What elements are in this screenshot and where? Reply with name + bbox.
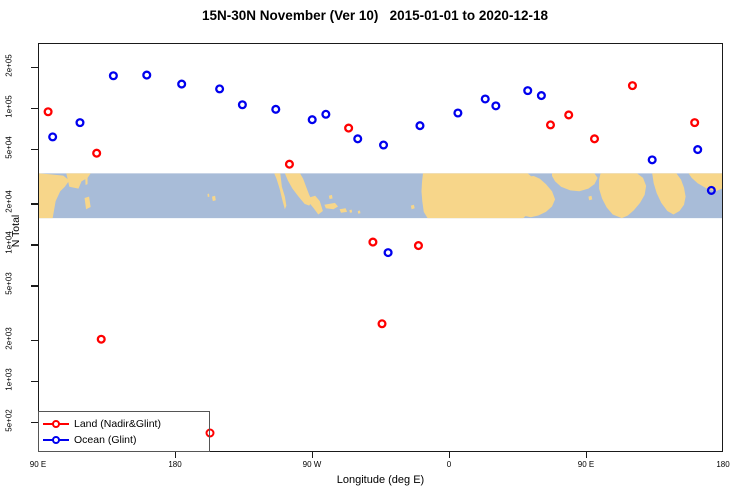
- y-axis-tick-mark: [31, 67, 38, 68]
- data-point: [98, 336, 105, 343]
- data-point: [417, 122, 424, 129]
- data-point: [694, 146, 701, 153]
- y-axis-tick-mark: [31, 285, 38, 286]
- data-point: [455, 110, 462, 117]
- y-axis-tick-label: 2e+04: [5, 182, 14, 222]
- x-axis-tick-mark: [175, 452, 176, 458]
- x-axis-tick-label: 180: [168, 460, 181, 469]
- legend-swatch-ocean: [43, 435, 69, 445]
- legend-label-ocean: Ocean (Glint): [74, 434, 136, 446]
- y-axis-tick-label: 1e+04: [5, 223, 14, 263]
- data-point: [629, 82, 636, 89]
- x-axis-tick-label: 90 E: [30, 460, 46, 469]
- y-axis-tick-label: 5e+03: [5, 264, 14, 304]
- y-axis-tick-label: 1e+05: [5, 87, 14, 127]
- data-point: [565, 112, 572, 119]
- data-point: [379, 320, 386, 327]
- data-point: [322, 111, 329, 118]
- data-point: [370, 239, 377, 246]
- data-point: [110, 72, 117, 79]
- data-point: [143, 72, 150, 79]
- y-axis-tick-mark: [31, 108, 38, 109]
- x-axis-tick-label: 0: [447, 460, 451, 469]
- y-axis-tick-label: 5e+02: [5, 400, 14, 440]
- y-axis-tick-mark: [31, 381, 38, 382]
- data-point: [272, 106, 279, 113]
- data-point: [524, 87, 531, 94]
- y-axis-tick-label: 2e+05: [5, 46, 14, 86]
- data-point: [482, 96, 489, 103]
- legend-item-land[interactable]: Land (Nadir&Glint): [43, 416, 161, 432]
- y-axis-tick-mark: [31, 340, 38, 341]
- data-point: [708, 187, 715, 194]
- data-point: [239, 101, 246, 108]
- data-point: [380, 142, 387, 149]
- x-axis-tick-mark: [586, 452, 587, 458]
- x-axis-tick-label: 90 E: [578, 460, 594, 469]
- data-point: [547, 122, 554, 129]
- data-point: [45, 108, 52, 115]
- data-point: [691, 119, 698, 126]
- legend-label-land: Land (Nadir&Glint): [74, 418, 161, 430]
- data-point: [216, 86, 223, 93]
- data-points-layer: [39, 44, 722, 451]
- y-axis-tick-mark: [31, 244, 38, 245]
- data-point: [309, 116, 316, 123]
- data-point: [354, 135, 361, 142]
- y-axis-tick-mark: [31, 203, 38, 204]
- data-point: [345, 125, 352, 132]
- data-point: [415, 242, 422, 249]
- scatter-plot-figure: 15N-30N November (Ver 10) 2015-01-01 to …: [0, 0, 750, 500]
- data-point: [286, 161, 293, 168]
- x-axis-label: Longitude (deg E): [38, 474, 723, 486]
- plot-area: [38, 43, 723, 452]
- data-point: [591, 135, 598, 142]
- data-point: [538, 92, 545, 99]
- x-axis-tick-mark: [449, 452, 450, 458]
- legend-item-ocean[interactable]: Ocean (Glint): [43, 432, 136, 448]
- y-axis-tick-mark: [31, 422, 38, 423]
- x-axis-tick-label: 90 W: [303, 460, 322, 469]
- data-point: [385, 249, 392, 256]
- data-point: [649, 156, 656, 163]
- y-axis-tick-label: 2e+03: [5, 318, 14, 358]
- page-title: 15N-30N November (Ver 10) 2015-01-01 to …: [0, 8, 750, 23]
- y-axis-tick-label: 5e+04: [5, 128, 14, 168]
- data-point: [178, 81, 185, 88]
- legend-swatch-land: [43, 419, 69, 429]
- data-point: [49, 134, 56, 141]
- y-axis-tick-mark: [31, 149, 38, 150]
- data-point: [93, 150, 100, 157]
- data-point: [77, 119, 84, 126]
- y-axis-tick-label: 1e+03: [5, 359, 14, 399]
- data-point: [492, 102, 499, 109]
- x-axis-tick-mark: [312, 452, 313, 458]
- x-axis-tick-label: 180: [716, 460, 729, 469]
- legend: Land (Nadir&Glint) Ocean (Glint): [38, 411, 210, 452]
